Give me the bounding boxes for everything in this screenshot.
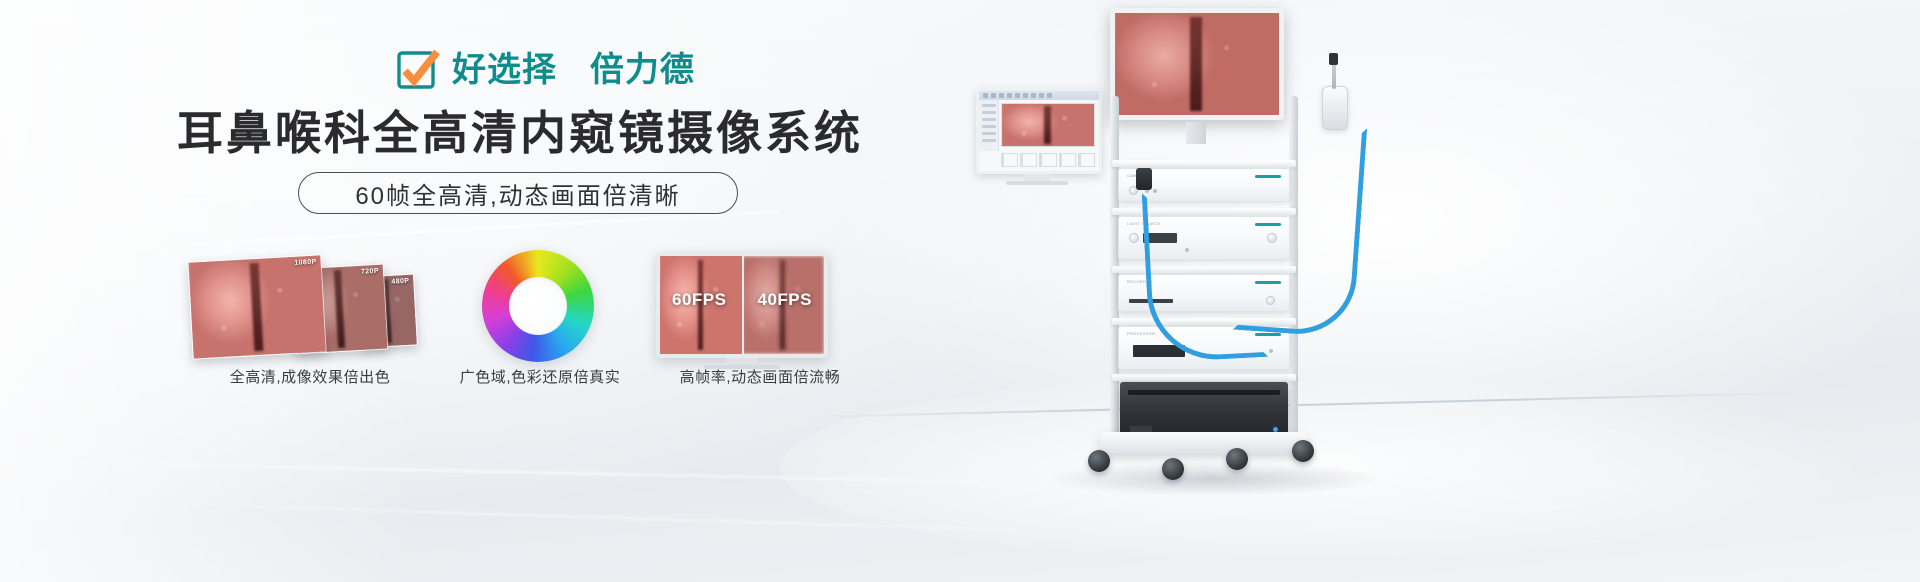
cart-caster xyxy=(1088,450,1110,472)
endoscopy-image xyxy=(1002,104,1094,146)
endoscopy-image xyxy=(1060,153,1062,167)
workstation-monitor-base xyxy=(1006,181,1068,185)
color-wheel-icon xyxy=(482,250,594,362)
software-sidebar xyxy=(979,100,999,151)
unit-label: PROCESSOR xyxy=(1127,331,1155,336)
thumbnail xyxy=(1078,153,1095,167)
feature-row: 480P 720P 1080P 全高清,成像效果倍出色 广色域,色彩还原倍真实 xyxy=(0,248,1040,398)
endoscopy-image xyxy=(188,255,325,358)
resolution-label: 1080P xyxy=(294,259,317,267)
page-title: 耳鼻喉科全高清内窥镜摄像系统 xyxy=(0,106,1040,160)
endoscopy-image xyxy=(1002,153,1004,167)
feature-full-hd: 480P 720P 1080P 全高清,成像效果倍出色 xyxy=(190,248,430,398)
checkbox-check-icon xyxy=(396,48,440,92)
endoscopy-image xyxy=(1040,153,1042,167)
text-content-block: 好选择 倍力德 耳鼻喉科全高清内窥镜摄像系统 60帧全高清,动态画面倍清晰 48… xyxy=(0,0,860,582)
resolution-label: 480P xyxy=(391,278,409,286)
cart-base xyxy=(1100,432,1308,454)
brand-tagline-left: 好选择 xyxy=(452,51,557,89)
thumbnail xyxy=(1039,153,1056,167)
software-thumbnail-strip xyxy=(1001,153,1095,167)
thumbnail xyxy=(1059,153,1076,167)
endoscope-connector xyxy=(1136,168,1152,190)
unit-button[interactable] xyxy=(1269,349,1273,353)
fps-label-left: 60FPS xyxy=(672,290,726,310)
workstation-software-ui xyxy=(979,91,1099,171)
monitor-screen: 60FPS 40FPS xyxy=(660,256,824,354)
thumbnail xyxy=(1020,153,1037,167)
software-live-view xyxy=(1001,103,1095,147)
thumbnail xyxy=(1001,153,1018,167)
split-divider xyxy=(742,256,744,354)
feature-wide-gamut: 广色域,色彩还原倍真实 xyxy=(420,248,660,398)
brand-tagline-right: 倍力德 xyxy=(590,51,695,89)
software-toolbar xyxy=(979,91,1099,100)
resolution-panel-1080p: 1080P xyxy=(187,254,326,359)
unit-knob[interactable] xyxy=(1129,233,1139,243)
subtitle-pill-label: 60帧全高清,动态画面倍清晰 xyxy=(355,176,680,211)
feature-caption: 广色域,色彩还原倍真实 xyxy=(420,366,660,387)
feature-caption: 高帧率,动态画面倍流畅 xyxy=(640,366,880,387)
feature-high-framerate: 60FPS 40FPS 高帧率,动态画面倍流畅 xyxy=(640,248,880,398)
endoscope-handle[interactable] xyxy=(1322,86,1348,130)
brand-tagline: 好选择 倍力德 xyxy=(452,53,695,87)
brand-lockup: 好选择 倍力德 xyxy=(396,48,695,92)
workstation-monitor xyxy=(976,88,1102,174)
subtitle-pill: 60帧全高清,动态画面倍清晰 xyxy=(298,172,738,214)
endoscopy-image xyxy=(1079,153,1081,167)
cart-caster xyxy=(1162,458,1184,480)
cart-shelf xyxy=(1112,374,1296,381)
printer-paper-tray xyxy=(1128,390,1280,395)
resolution-label: 720P xyxy=(361,268,379,276)
product-illustration: CAMERA LIGHT SOURCE RECORDER PROCESSOR xyxy=(940,0,1640,582)
cart-caster xyxy=(1292,440,1314,462)
fps-label-right: 40FPS xyxy=(758,290,812,310)
feature-caption: 全高清,成像效果倍出色 xyxy=(190,366,430,387)
cart-caster xyxy=(1226,448,1248,470)
fps-comparison-monitor: 60FPS 40FPS xyxy=(656,252,828,358)
endoscopy-image xyxy=(1021,153,1023,167)
